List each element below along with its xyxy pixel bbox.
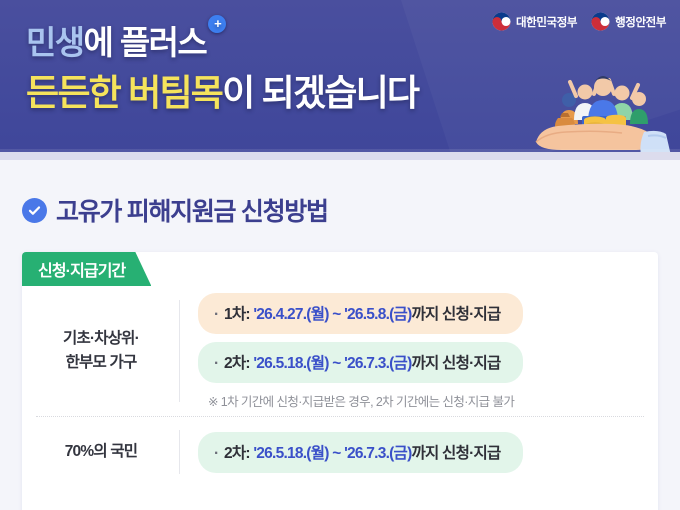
period-table: 기초·차상위· 한부모 가구 · 1차: '26.4.27.(월) ~ '26.… — [22, 286, 658, 488]
card-tab-label: 신청·지급기간 — [38, 257, 125, 281]
hand-holding-coins-and-people-illustration — [522, 56, 672, 160]
banner-bottom-strip — [0, 152, 680, 160]
pill-tail-text: 까지 신청·지급 — [411, 355, 500, 372]
pill-date-start: '26.4.27.(월) — [253, 306, 328, 323]
gov-logo-korean-government: 대한민국정부 — [492, 12, 577, 31]
pill-date-start: '26.5.18.(월) — [253, 355, 328, 372]
plus-badge-icon: + — [208, 15, 226, 33]
table-row: 70%의 국민 · 2차: '26.5.18.(월) ~ '26.7.3.(금)… — [22, 416, 658, 488]
headline-line-2-rest: 이 되겠습니다 — [222, 72, 418, 113]
row-content-cell: · 1차: '26.4.27.(월) ~ '26.5.8.(금)까지 신청·지급… — [180, 286, 658, 416]
row-label-line: 기초·차상위· — [63, 327, 139, 351]
taeguk-icon — [591, 12, 610, 31]
pill-date-end: '26.5.8.(금) — [344, 306, 411, 323]
pill-date-end: '26.7.3.(금) — [344, 445, 411, 462]
headline-highlight-beotimmok: 든든한 버팀목 — [26, 72, 222, 113]
pill-date-separator: ~ — [329, 355, 344, 372]
pill-bullet: · — [214, 445, 218, 462]
gov-logo-label: 행정안전부 — [615, 14, 666, 30]
application-period-card: 신청·지급기간 기초·차상위· 한부모 가구 · 1차: '26.4.27.(월… — [22, 252, 658, 510]
gov-logo-ministry-interior-safety: 행정안전부 — [591, 12, 666, 31]
row-label-cell: 70%의 국민 — [22, 416, 180, 488]
government-logos: 대한민국정부 행정안전부 — [492, 12, 666, 31]
headline-line-1-rest: 에 플러스 — [84, 24, 207, 61]
card-tab-application-period: 신청·지급기간 — [22, 252, 151, 286]
gov-logo-label: 대한민국정부 — [516, 14, 577, 30]
infographic-page: 대한민국정부 행정안전부 민생에 플러스+ 든든한 버팀목이 되겠습니다 — [0, 0, 680, 510]
row-note-text: ※ 1차 기간에 신청·지급받은 경우, 2차 기간에는 신청·지급 불가 — [198, 391, 514, 410]
table-row: 기초·차상위· 한부모 가구 · 1차: '26.4.27.(월) ~ '26.… — [22, 286, 658, 416]
row-content-cell: · 2차: '26.5.18.(월) ~ '26.7.3.(금)까지 신청·지급 — [180, 416, 658, 488]
banner-headline: 민생에 플러스+ 든든한 버팀목이 되겠습니다 — [26, 22, 418, 116]
pill-phase-label: 2차: — [224, 355, 253, 372]
pill-date-separator: ~ — [329, 306, 344, 323]
pill-phase-label: 2차: — [224, 445, 253, 462]
period-pill-phase-1: · 1차: '26.4.27.(월) ~ '26.5.8.(금)까지 신청·지급 — [198, 293, 523, 334]
pill-bullet: · — [214, 306, 218, 323]
headline-highlight-minsaeng: 민생 — [26, 24, 84, 61]
row-label-line: 70%의 국민 — [65, 440, 138, 464]
page-title: 고유가 피해지원금 신청방법 — [56, 192, 328, 228]
row-label-line: 한부모 가구 — [66, 351, 137, 375]
headline-line-1: 민생에 플러스+ — [26, 22, 418, 64]
pill-bullet: · — [214, 355, 218, 372]
pill-date-start: '26.5.18.(월) — [253, 445, 328, 462]
pill-date-separator: ~ — [329, 445, 344, 462]
pill-tail-text: 까지 신청·지급 — [411, 306, 500, 323]
header-banner: 대한민국정부 행정안전부 민생에 플러스+ 든든한 버팀목이 되겠습니다 — [0, 0, 680, 160]
check-circle-icon — [22, 198, 47, 223]
section-title-row: 고유가 피해지원금 신청방법 — [22, 192, 328, 228]
pill-date-end: '26.7.3.(금) — [344, 355, 411, 372]
period-pill-phase-2: · 2차: '26.5.18.(월) ~ '26.7.3.(금)까지 신청·지급 — [198, 342, 523, 383]
taeguk-icon — [492, 12, 511, 31]
period-pill-phase-2: · 2차: '26.5.18.(월) ~ '26.7.3.(금)까지 신청·지급 — [198, 432, 523, 473]
pill-tail-text: 까지 신청·지급 — [411, 445, 500, 462]
row-label-cell: 기초·차상위· 한부모 가구 — [22, 286, 180, 416]
headline-line-2: 든든한 버팀목이 되겠습니다 — [26, 70, 418, 116]
pill-phase-label: 1차: — [224, 306, 253, 323]
